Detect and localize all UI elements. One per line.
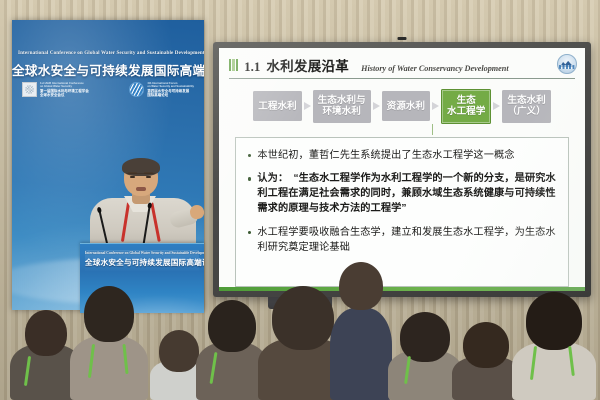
bullet-text-1: 本世纪初，董哲仁先生系统提出了生态水工程学这一概念 [257,149,514,164]
banner-title-chinese: 全球水安全与可持续发展国际高端论坛 [12,60,204,79]
audience-head [208,300,256,352]
audience-head [25,310,67,356]
bullet-dot-icon [248,154,251,157]
slide-title-chinese: 水利发展沿革 [266,55,349,75]
flow-arrow-1-icon [304,102,311,110]
speaker-figure [84,158,202,253]
audience-head [84,286,134,342]
banner-logo-row: 1st IAHR International Conference on Glo… [22,82,194,97]
conference-photo-scene: International Conference on Global Water… [0,0,600,400]
flow-arrow-3-icon [432,102,439,110]
audience-body [330,308,392,400]
audience-head [339,262,383,310]
audience-head [159,330,199,372]
flow-box-4-highlighted: 生态 水工程学 [441,89,491,124]
audience-member [388,308,462,400]
logo-1-cn-line-2: 全球水安全会议 [40,93,89,97]
globe-swirl-icon [129,82,144,97]
audience-body [512,342,596,400]
bullet-item-1: 本世纪初，董哲仁先生系统提出了生态水工程学这一概念 [248,149,556,164]
banner-logo-2-text: 4th International Forum on Water Securit… [147,82,194,97]
flow-connector-line [432,124,433,135]
evolution-flow-diagram: 工程水利 生态水利与 环境水利 资源水利 生态 水工程学 生态水利 （广义） [229,89,575,124]
banner-logo-1: 1st IAHR International Conference on Glo… [22,82,89,97]
banner-logo-1-text: 1st IAHR International Conference on Glo… [40,82,89,97]
bullet-dot-icon [248,231,251,234]
audience-member [452,320,520,400]
mountain-water-emblem-icon [557,54,577,74]
bullet-item-2: 认为： “生态水工程学作为水利工程学的一个新的分支，是研究水利工程在满足社会需求… [248,172,556,216]
slide-number: 1.1 [244,59,260,75]
audience-head [526,292,582,350]
speaker-mouth [136,187,146,191]
seated-audience [0,250,600,400]
banner-title-english: International Conference on Global Water… [18,50,198,56]
flow-box-1: 工程水利 [253,91,301,121]
banner-logo-2: 4th International Forum on Water Securit… [129,82,194,97]
logo-2-cn-line-2: 国际高端论坛 [147,93,194,97]
glasses-icon [127,173,155,178]
flow-box-5: 生态水利 （广义） [502,90,550,123]
slide-title-bar: 1.1 水利发展沿革 History of Water Conservancy … [229,55,575,79]
title-tick-marks-icon [229,59,238,71]
audience-member [330,262,392,400]
bullet-text-2: 认为： “生态水工程学作为水利工程学的一个新的分支，是研究水利工程在满足社会需求… [257,172,556,216]
display-camera-icon [398,37,407,40]
bullet-dot-icon [248,177,251,180]
audience-member [70,282,148,400]
audience-head [272,286,334,350]
audience-body [70,336,148,400]
audience-member [512,290,596,400]
audience-head [463,322,509,368]
emblem-square-icon [22,82,37,97]
flow-box-3: 资源水利 [382,91,430,121]
flow-arrow-2-icon [373,102,380,110]
flow-box-2: 生态水利与 环境水利 [313,90,371,123]
flow-arrow-4-icon [493,102,500,110]
slide-title-english: History of Water Conservancy Development [361,64,509,73]
audience-head [400,312,450,362]
